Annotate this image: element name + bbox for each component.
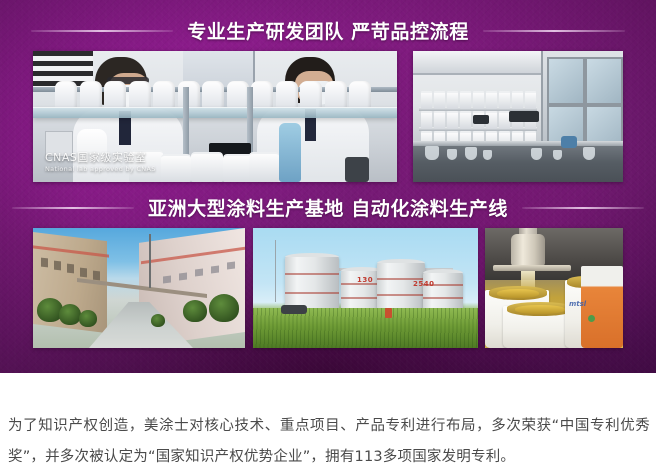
section-title-production-base: 亚洲大型涂料生产基地 自动化涂料生产线 [148, 194, 508, 221]
cnas-caption: CNAS国家级实验室 National lab approved by CNAS [45, 151, 156, 174]
sample-jar [460, 111, 471, 129]
cabinet-door-left [547, 57, 585, 105]
utility-pole [149, 234, 151, 288]
paint-bucket-back-fill [497, 289, 539, 298]
shelf-bottle [202, 81, 224, 109]
sample-jar [447, 111, 458, 129]
glassware [465, 147, 477, 160]
photo-storage-tanks: 130 2540 [253, 228, 478, 348]
building-window-left [54, 261, 61, 271]
grass-field [253, 308, 478, 348]
filling-nozzle [511, 234, 545, 266]
sample-jar [447, 91, 458, 109]
cnas-caption-en: National lab approved by CNAS [45, 165, 156, 174]
sample-jar [191, 152, 223, 182]
pail-green-badge [588, 315, 595, 322]
tank-label-130: 130 [357, 276, 373, 284]
cnas-caption-cn: CNAS国家级实验室 [45, 151, 156, 165]
shelf-bottle [300, 81, 322, 109]
storage-tank [377, 262, 425, 314]
red-drum [385, 308, 392, 318]
tank-roof [423, 269, 463, 273]
photo-factory-campus [33, 228, 245, 348]
jar-row [421, 91, 539, 107]
fume-hood [413, 51, 541, 75]
tank-band [377, 294, 425, 296]
sample-jar [486, 91, 497, 109]
bench-equipment-one [509, 111, 539, 122]
shelf-bottle [325, 81, 347, 109]
heading2-rule-right-icon [522, 207, 644, 209]
shelf-bottle [349, 81, 371, 109]
shelf-bottle [227, 81, 249, 109]
sample-jar [460, 91, 471, 109]
building-window-right [195, 269, 203, 277]
blue-container [561, 136, 577, 148]
building-window-right [227, 261, 235, 269]
sample-jar [421, 91, 432, 109]
water-bottle [279, 123, 301, 182]
glassware [531, 148, 542, 160]
sample-jar [161, 154, 191, 182]
tree [209, 294, 239, 322]
glass-shelf [33, 107, 397, 118]
section-heading-production-base: 亚洲大型涂料生产基地 自动化涂料生产线 [0, 194, 656, 221]
cabinet-door-right [585, 57, 623, 105]
parked-vehicle [281, 305, 307, 314]
purple-banner: 专业生产研发团队 严苛品控流程 [0, 0, 656, 373]
sample-jar [525, 91, 536, 109]
tank-roof [377, 259, 425, 263]
shelf-bottle [129, 81, 151, 109]
glassware [483, 150, 492, 160]
photo-lab-technicians: CNAS国家级实验室 National lab approved by CNAS [33, 51, 397, 182]
sample-jar [512, 91, 523, 109]
tank-roof [285, 253, 339, 257]
building-window-left [67, 264, 74, 274]
shelf-bottle [80, 81, 102, 109]
heading-rule-right-icon [483, 30, 625, 32]
photo-paint-filling: mtsl [485, 228, 623, 348]
bench-equipment-two [473, 115, 489, 124]
building-window-left [80, 267, 87, 277]
bottle-row [55, 81, 375, 109]
storage-tank [423, 272, 463, 312]
dark-mug [345, 157, 369, 182]
building-window-right [179, 272, 187, 280]
tree [183, 300, 207, 322]
sample-jar [473, 91, 484, 109]
tank-band [285, 292, 339, 294]
paint-bucket-front-fill [515, 305, 565, 314]
promo-banner-page: 专业生产研发团队 严苛品控流程 [0, 0, 656, 463]
sample-jar [249, 152, 279, 182]
orange-paint-pail [581, 266, 623, 348]
section-heading-production-rd: 专业生产研发团队 严苛品控流程 [0, 17, 656, 44]
sample-jar [434, 91, 445, 109]
heading2-rule-left-icon [12, 207, 134, 209]
shelf-bottle [104, 81, 126, 109]
section-title-production-rd: 专业生产研发团队 严苛品控流程 [187, 17, 469, 44]
tree [59, 304, 81, 325]
bucket-brand-logo: mtsl [569, 300, 586, 308]
building-window-left [41, 258, 48, 268]
sample-jar [434, 111, 445, 129]
glassware [583, 147, 595, 160]
building-window-right [211, 265, 219, 273]
photo-lab-bench [413, 51, 623, 182]
shelf-bottle [153, 81, 175, 109]
shelf-bottle [251, 81, 273, 109]
sample-jar [499, 91, 510, 109]
building-window-left [93, 270, 100, 280]
tree [151, 314, 165, 327]
intellectual-property-paragraph: 为了知识产权创造，美涂士对核心技术、重点项目、产品专利进行布局，多次荣获“中国专… [8, 411, 650, 463]
glassware [425, 146, 439, 160]
tank-band [423, 297, 463, 299]
tank-label-2540: 2540 [413, 280, 434, 288]
glassware [553, 150, 562, 160]
tank-band [285, 273, 339, 275]
glassware [447, 149, 457, 160]
shelf-bottle [276, 81, 298, 109]
antenna-mast [275, 240, 276, 302]
shelf-bottle [55, 81, 77, 109]
sample-jar [421, 111, 432, 129]
heading-rule-left-icon [31, 30, 173, 32]
tree [79, 310, 97, 327]
